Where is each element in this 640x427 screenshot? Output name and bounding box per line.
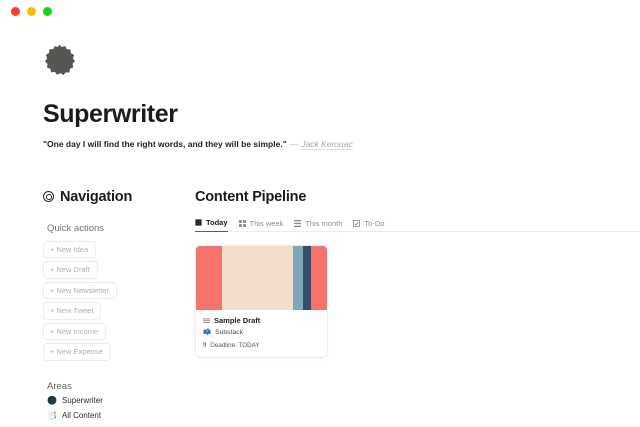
new-idea-button[interactable]: + New Idea [43, 241, 96, 259]
new-newsletter-button[interactable]: + New Newsletter [43, 282, 117, 300]
card-cover-image [196, 246, 327, 310]
new-expense-button[interactable]: + New Expense [43, 343, 111, 361]
areas-label: Areas [47, 382, 195, 392]
tab-label: This week [250, 220, 284, 228]
content-columns: Navigation Quick actions + New Idea + Ne… [0, 149, 640, 427]
sidebar-item-superwriter[interactable]: 🌑 Superwriter [47, 397, 195, 405]
card-title-row: Sample Draft [203, 317, 320, 325]
pipeline-title: Content Pipeline [195, 190, 640, 205]
tab-this-week[interactable]: This week [239, 220, 284, 232]
maximize-button[interactable] [43, 7, 52, 16]
pipeline-card[interactable]: Sample Draft 📫 Substack ‼ Deadline: TODA… [195, 245, 328, 359]
bookmark-tabs-icon: 📑 [47, 412, 57, 420]
page-root: Superwriter "One day I will find the rig… [0, 22, 640, 400]
new-tweet-button[interactable]: + New Tweet [43, 302, 101, 320]
cover-band [196, 246, 222, 310]
page-title: Superwriter [43, 102, 640, 127]
card-body: Sample Draft 📫 Substack ‼ Deadline: TODA… [196, 310, 327, 358]
quote-text: "One day I will find the right words, an… [43, 139, 287, 149]
navigation-heading-label: Navigation [60, 190, 132, 205]
hero-quote: "One day I will find the right words, an… [43, 140, 640, 149]
double-exclamation-icon: ‼ [203, 343, 206, 350]
checkbox-icon [353, 220, 360, 227]
card-deadline: Deadline: TODAY [210, 343, 259, 349]
quick-actions-label: Quick actions [47, 224, 195, 234]
new-income-button[interactable]: + New Income [43, 323, 106, 341]
navigation-sidebar: Navigation Quick actions + New Idea + Ne… [43, 190, 195, 427]
new-draft-button[interactable]: + New Draft [43, 261, 98, 279]
cover-band [303, 246, 311, 310]
cover-band [311, 246, 327, 310]
starburst-icon [43, 44, 75, 76]
document-icon [203, 317, 210, 324]
cover-band [293, 246, 303, 310]
grid-rows-icon [294, 220, 301, 227]
minimize-button[interactable] [27, 7, 36, 16]
tab-label: To-Do [364, 220, 384, 228]
quote-dash: — [290, 139, 299, 149]
tab-today[interactable]: Today [195, 219, 228, 232]
tab-to-do[interactable]: To-Do [353, 220, 384, 232]
quote-author: Jack Kerouac [301, 139, 353, 150]
filled-square-icon [195, 219, 202, 226]
quick-actions-list: + New Idea + New Draft + New Newsletter … [43, 241, 195, 361]
cover-band [222, 246, 293, 310]
sidebar-item-label: All Content [62, 412, 101, 420]
target-ring-icon [43, 191, 54, 202]
tab-label: Today [206, 219, 228, 227]
pipeline-tabs: Today This week [195, 219, 640, 232]
card-source: Substack [215, 330, 243, 337]
tab-label: This month [305, 220, 342, 228]
navigation-heading: Navigation [43, 190, 195, 205]
close-button[interactable] [11, 7, 20, 16]
card-deadline-row: ‼ Deadline: TODAY [203, 343, 320, 350]
mailbox-icon: 📫 [203, 330, 211, 337]
hero-header: Superwriter "One day I will find the rig… [0, 22, 640, 149]
new-moon-icon: 🌑 [47, 397, 57, 405]
content-pipeline-panel: Content Pipeline Today This week [195, 190, 640, 359]
sidebar-item-label: Superwriter [62, 397, 103, 405]
card-title: Sample Draft [214, 317, 260, 325]
grid-4-icon [239, 220, 246, 227]
sidebar-item-all-content[interactable]: 📑 All Content [47, 412, 195, 420]
window-titlebar [0, 0, 640, 22]
tab-this-month[interactable]: This month [294, 220, 342, 232]
card-source-row: 📫 Substack [203, 330, 320, 337]
